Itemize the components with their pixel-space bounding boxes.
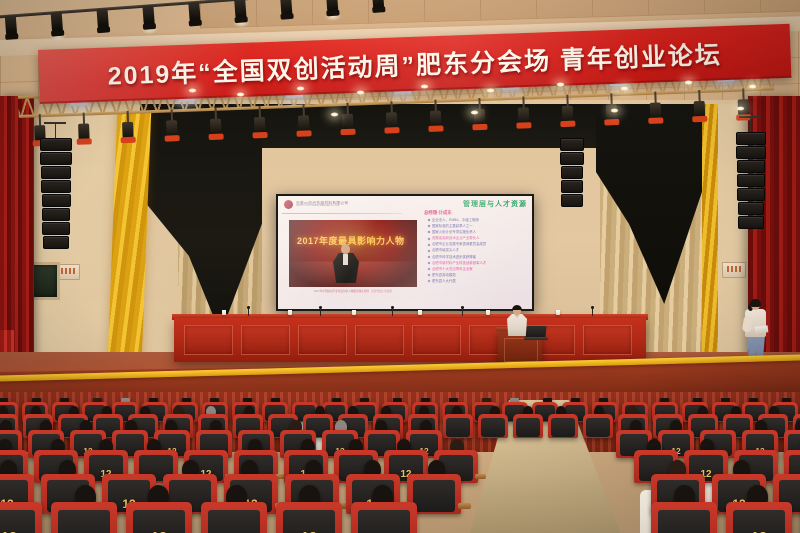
- slide-bullet-item: 肥东县人大代表: [428, 279, 528, 284]
- ceiling-downlight: [684, 80, 693, 85]
- water-cup: [556, 310, 560, 315]
- audience-seat: 12: [126, 502, 192, 533]
- ceiling-downlight: [556, 82, 565, 87]
- table-front-panel: [583, 325, 632, 355]
- stage-par-can: [518, 107, 530, 123]
- stage-par-can: [298, 115, 310, 131]
- table-microphone: [462, 308, 463, 316]
- slide-divider: [282, 213, 402, 214]
- ceiling-downlight: [748, 84, 757, 89]
- slide-bullet-list: 企业法人、EMBA、中级工程师国家标准的主要起草人之一国家火炬计划专项实施负责人…: [428, 218, 528, 285]
- seat-back-pad: [208, 510, 259, 533]
- table-microphone: [592, 308, 593, 316]
- speaker-cabinet: [42, 208, 70, 221]
- stage-par-can: [342, 114, 354, 130]
- bullet-dot-icon: [428, 255, 431, 258]
- ceiling-rail-lamp: [97, 8, 109, 29]
- table-front-panel: [241, 325, 290, 355]
- speaker-cabinet: [561, 180, 583, 193]
- head-table: [174, 318, 646, 362]
- ceiling-rail-lamp: [142, 5, 154, 26]
- light-rail-bar: [0, 0, 420, 19]
- seat-back-pad: [446, 418, 469, 437]
- audience-seat: [651, 502, 717, 533]
- speaker-rigging: [55, 122, 56, 138]
- slide-bullet-item: 国家标准的主要起草人之一: [428, 224, 528, 229]
- slide-bullet-item: 合肥市新材料产业科技创新领军人才: [428, 261, 528, 266]
- ceiling-panel: [424, 0, 484, 22]
- speaker-rigging: [750, 116, 751, 132]
- ceiling-downlight: [420, 84, 429, 89]
- seat-back-pad: [358, 510, 409, 533]
- water-cup: [288, 310, 292, 315]
- ceiling-rail-lamp: [280, 0, 292, 16]
- speaker-cabinet: [738, 216, 764, 229]
- slide-bullet-text: 肥东县人大代表: [432, 279, 456, 284]
- bullet-dot-icon: [428, 262, 431, 265]
- water-cup: [222, 310, 226, 315]
- ceiling-panel: [648, 0, 708, 16]
- slide-bullet-text: 合肥市企业发展专家咨询委员会成员: [432, 242, 486, 247]
- stage-par-can: [562, 106, 574, 122]
- table-microphone: [248, 308, 249, 316]
- slide-bullet-item: 企业法人、EMBA、中级工程师: [428, 218, 528, 223]
- ceiling-downlight: [470, 110, 479, 115]
- speaker-cabinet: [43, 236, 70, 249]
- speaker-cabinet: [738, 202, 765, 215]
- slide-photo-headline: 2017年度最具影响力人物: [297, 234, 405, 247]
- audience-seat: [478, 414, 508, 438]
- ceiling-panel: [592, 0, 652, 17]
- slide-photo-person-head: [341, 244, 350, 254]
- bullet-dot-icon: [428, 219, 431, 222]
- speaker-cabinet: [736, 132, 766, 145]
- slide-bullet-item: 安徽省高新技术企业产业带头人: [428, 236, 528, 241]
- slide-bullet-text: 国家火炬计划专项实施负责人: [432, 230, 476, 235]
- ceiling-downlight: [188, 88, 197, 93]
- presenter-person: [505, 306, 529, 336]
- slide-surface: 安徽xx纺织热熔材料有限公司 ANHUI XXXX Heating Materi…: [278, 196, 532, 309]
- stage-par-can: [166, 120, 178, 136]
- stage-par-can: [210, 119, 222, 135]
- ceiling-downlight: [620, 86, 629, 91]
- ceiling-rail-lamp: [51, 12, 63, 33]
- ceiling-rail-lamp: [326, 0, 338, 12]
- water-cup: [418, 310, 422, 315]
- stage-par-can: [650, 102, 662, 118]
- audience-seat: 12: [0, 502, 42, 533]
- seat-back-pad: [516, 418, 539, 437]
- ceiling-downlight: [610, 108, 619, 113]
- stage-par-can: [430, 111, 442, 127]
- ceiling-panel: [536, 0, 596, 19]
- seat-armrest: [475, 474, 486, 479]
- speaker-cabinet: [42, 194, 71, 207]
- audience-seat: [51, 502, 117, 533]
- bullet-dot-icon: [428, 231, 431, 234]
- ceiling-rail-lamp: [234, 0, 246, 19]
- stage-par-can: [386, 112, 398, 128]
- logo-mark-icon: [284, 200, 293, 209]
- seat-back-pad: [658, 510, 709, 533]
- speaker-cabinet: [41, 166, 72, 179]
- audience-seat: 12: [726, 502, 792, 533]
- speaker-cabinet: [560, 152, 583, 165]
- line-array-speaker-center: [560, 138, 582, 208]
- slide-bullet-item: 合肥市级拔尖人才: [428, 248, 528, 253]
- bullet-dot-icon: [428, 274, 431, 277]
- speaker-cabinet: [42, 222, 70, 235]
- water-cup: [486, 310, 490, 315]
- ceiling-downlight: [486, 88, 495, 93]
- speaker-cabinet: [736, 146, 765, 159]
- slide-bullet-text: 国家标准的主要起草人之一: [432, 224, 473, 229]
- audience-seat: [443, 414, 473, 438]
- ceiling-panel: [480, 0, 540, 21]
- slide-bullet-text: 合肥市级拔尖人才: [432, 248, 459, 253]
- table-front-panel: [355, 325, 404, 355]
- seat-back-pad: [413, 480, 455, 511]
- yellow-curtain-right: [702, 104, 718, 366]
- auditorium-photo: 安徽xx纺织热熔材料有限公司 ANHUI XXXX Heating Materi…: [0, 0, 800, 533]
- stage-par-can: [78, 123, 90, 139]
- slide-bullet-text: 合肥市科学技术进步奖获得者: [432, 255, 476, 260]
- stage-par-can: [694, 101, 706, 117]
- slide-title: 管理层与人才资源: [463, 199, 527, 209]
- podium-front-panel: [504, 338, 538, 362]
- logo-text-en: ANHUI XXXX Heating Materials Co., Ltd.: [296, 205, 348, 208]
- ceiling-downlight: [330, 112, 339, 117]
- slide-bullet-item: 合肥市企业发展专家咨询委员会成员: [428, 242, 528, 247]
- ceiling-downlight: [296, 86, 305, 91]
- line-array-speaker-right: [736, 132, 764, 230]
- audience-seat: [351, 502, 417, 533]
- bullet-dot-icon: [428, 249, 431, 252]
- audience-seat: [201, 502, 267, 533]
- table-front-panel: [412, 325, 461, 355]
- speaker-cabinet: [737, 188, 764, 201]
- speaker-cabinet: [737, 174, 765, 187]
- speaker-cabinet: [41, 180, 71, 193]
- seat-back-pad: [481, 418, 504, 437]
- water-cup: [352, 310, 356, 315]
- audience-seat: [548, 414, 578, 438]
- speaker-cabinet: [561, 194, 583, 207]
- slide-bullet-item: 国家火炬计划专项实施负责人: [428, 230, 528, 235]
- speaker-cabinet: [40, 138, 72, 151]
- ceiling-panel: [760, 0, 800, 13]
- wall-signage-plate-right: [722, 262, 746, 278]
- seat-back-pad: [586, 418, 609, 437]
- table-front-panel: [184, 325, 233, 355]
- slide-bullet-text: 安徽省高新技术企业产业带头人: [432, 236, 479, 241]
- ceiling-downlight: [236, 92, 245, 97]
- seat-back-pad: [551, 418, 574, 437]
- staff-hair: [750, 299, 761, 307]
- bullet-dot-icon: [428, 280, 431, 283]
- ceiling-rail-lamp: [188, 2, 200, 23]
- slide-bullet-text: 肥东县劳动模范: [432, 273, 456, 278]
- table-front-panel: [298, 325, 347, 355]
- audience-seat: [513, 414, 543, 438]
- slide-bullet-item: 合肥市十大杰出青年企业家: [428, 267, 528, 272]
- slide-photo-caption: 2017年中国纺织行业年度创新人物颁奖典礼现场 · 企业代表上台领奖: [288, 290, 418, 294]
- speaker-cabinet: [40, 152, 71, 165]
- ceiling-rail-lamp: [5, 15, 17, 36]
- ceiling-rail-lamp: [372, 0, 384, 9]
- projection-screen: 安徽xx纺织热熔材料有限公司 ANHUI XXXX Heating Materi…: [276, 194, 534, 311]
- laptop-keyboard: [524, 337, 548, 340]
- slide-bullet-item: 合肥市科学技术进步奖获得者: [428, 255, 528, 260]
- table-microphone: [392, 308, 393, 316]
- ceiling-panel: [704, 0, 764, 14]
- ceiling-downlight: [356, 90, 365, 95]
- slide-award-photo: 2017年度最具影响力人物: [289, 220, 417, 287]
- slide-bullet-text: 企业法人、EMBA、中级工程师: [432, 218, 479, 223]
- stage-par-can: [254, 117, 266, 133]
- bullet-dot-icon: [428, 268, 431, 271]
- speaker-cabinet: [560, 138, 584, 151]
- slide-photo-person-shirt: [343, 254, 348, 265]
- ceiling-downlight: [736, 106, 745, 111]
- slide-lead-name: 总经理-计成东: [424, 210, 452, 216]
- seat-back-pad: [58, 510, 109, 533]
- stage-par-can: [122, 122, 134, 138]
- slide-bullet-text: 合肥市十大杰出青年企业家: [432, 267, 473, 272]
- bullet-dot-icon: [428, 243, 431, 246]
- bullet-dot-icon: [428, 225, 431, 228]
- staff-papers: [755, 325, 769, 333]
- slide-bullet-text: 合肥市新材料产业科技创新领军人才: [432, 261, 486, 266]
- audience-seating: 1212121212121212121212121212121212121212…: [0, 398, 800, 533]
- line-array-speaker-left: [40, 138, 70, 250]
- bullet-dot-icon: [428, 237, 431, 240]
- table-microphone: [320, 308, 321, 316]
- speaker-cabinet: [561, 166, 584, 179]
- slide-bullet-item: 肥东县劳动模范: [428, 273, 528, 278]
- slide-company-logo: 安徽xx纺织热熔材料有限公司 ANHUI XXXX Heating Materi…: [284, 200, 348, 209]
- speaker-cabinet: [737, 160, 766, 173]
- presenter-hair: [512, 305, 522, 310]
- seat-armrest: [458, 503, 471, 509]
- audience-seat: 12: [276, 502, 342, 533]
- audience-seat: [583, 414, 613, 438]
